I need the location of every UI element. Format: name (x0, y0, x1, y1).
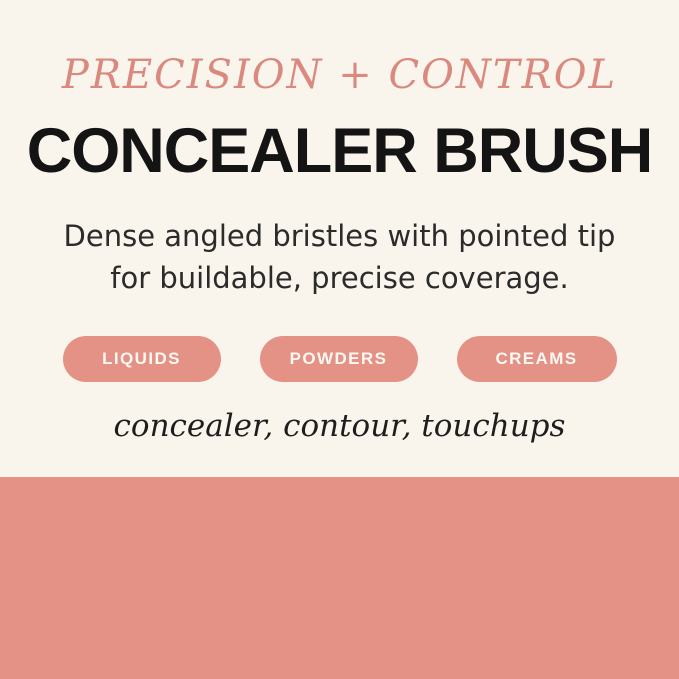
eyebrow-text: PRECISION + CONTROL (0, 55, 679, 95)
pill-liquids[interactable]: LIQUIDS (63, 336, 221, 382)
free-sample-banner: Don’t miss the FREE Concealer sample ins… (0, 477, 679, 679)
hero-section: PRECISION + CONTROL CONCEALER BRUSH Dens… (0, 0, 679, 477)
promo-graphic: PRECISION + CONTROL CONCEALER BRUSH Dens… (0, 0, 679, 679)
product-description: Dense angled bristles with pointed tip f… (40, 215, 639, 299)
pill-powders[interactable]: POWDERS (260, 336, 418, 382)
pill-creams[interactable]: CREAMS (457, 336, 617, 382)
page-title: CONCEALER BRUSH (0, 118, 679, 184)
usage-pill-row: LIQUIDS POWDERS CREAMS (0, 336, 679, 382)
usage-tagline: concealer, contour, touchups (0, 408, 679, 445)
